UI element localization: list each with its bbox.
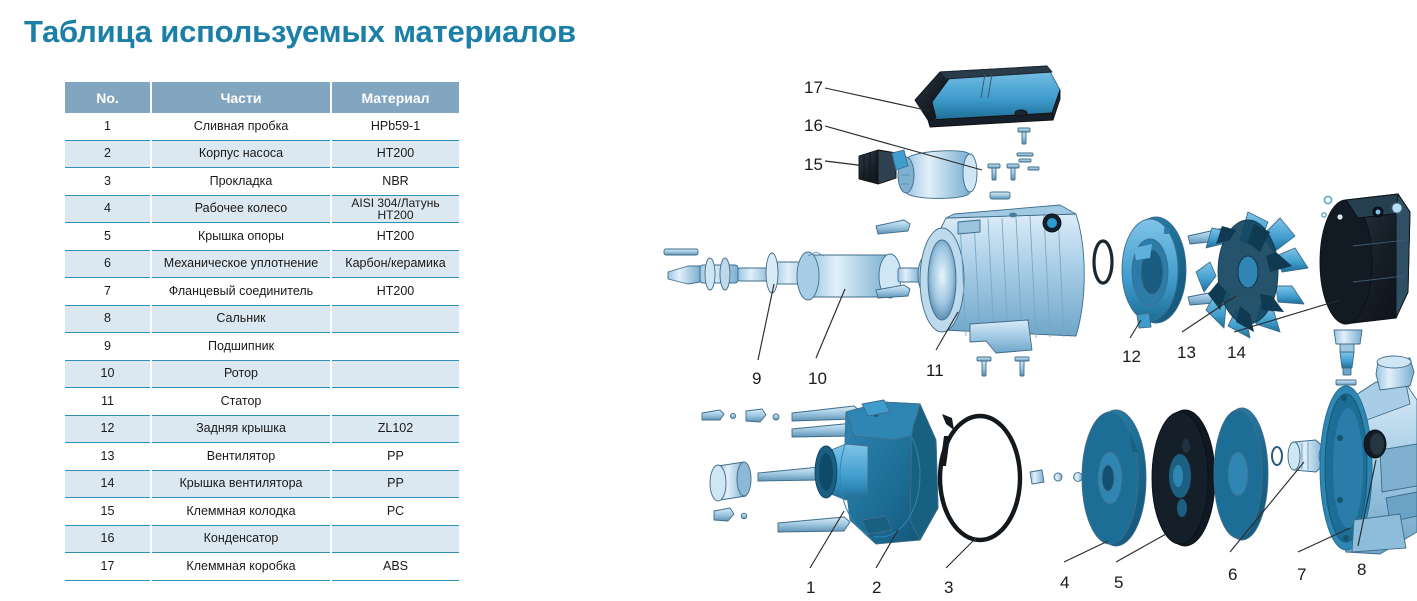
callout-label-1: 1 [806, 578, 815, 598]
table-row: 11Статор [65, 388, 459, 416]
materials-table-container: No. Части Материал 1Сливная пробкаHPb59-… [65, 82, 459, 581]
cell-material: ABS [331, 553, 459, 581]
cell-material: PC [331, 498, 459, 526]
table-row: 17Клеммная коробкаABS [65, 553, 459, 581]
cell-no: 7 [65, 278, 151, 306]
column-header-material: Материал [331, 82, 459, 113]
cell-material [331, 333, 459, 361]
callout-label-10: 10 [808, 369, 827, 389]
part-12-rear-cover [1122, 217, 1186, 328]
part-oring-rear [1094, 241, 1112, 283]
fasteners-mid-bottom [1030, 470, 1082, 484]
callout-label-4: 4 [1060, 573, 1069, 593]
table-row: 2Корпус насосаHT200 [65, 140, 459, 168]
cell-no: 12 [65, 415, 151, 443]
cell-material-line1: AISI 304/Латунь [334, 197, 457, 209]
part-3-gasket [940, 414, 1020, 540]
part-11-stator [920, 205, 1084, 338]
fasteners-foot [977, 357, 1029, 376]
table-row: 13ВентиляторPP [65, 443, 459, 471]
cell-part: Механическое уплотнение [151, 250, 331, 278]
exploded-pump-diagram: 1716159101112131412345678 [640, 0, 1417, 601]
cell-no: 17 [65, 553, 151, 581]
table-row: 7Фланцевый соединительHT200 [65, 278, 459, 306]
cell-part: Клеммная коробка [151, 553, 331, 581]
table-row: 9Подшипник [65, 333, 459, 361]
column-header-no: No. [65, 82, 151, 113]
cell-part: Статор [151, 388, 331, 416]
cell-part: Прокладка [151, 168, 331, 196]
table-row: 16Конденсатор [65, 525, 459, 553]
cell-material [331, 360, 459, 388]
callout-label-12: 12 [1122, 347, 1141, 367]
parts-plug-assembly [1334, 330, 1362, 385]
cell-material: PP [331, 443, 459, 471]
cell-material-line2: HT200 [334, 209, 457, 221]
cell-material [331, 305, 459, 333]
table-row: 14Крышка вентилятораPP [65, 470, 459, 498]
callout-label-2: 2 [872, 578, 881, 598]
part-17-terminal-box [915, 66, 1060, 127]
cell-no: 8 [65, 305, 151, 333]
cell-no: 13 [65, 443, 151, 471]
cell-part: Клеммная колодка [151, 498, 331, 526]
cell-material: HPb59-1 [331, 113, 459, 140]
column-header-part: Части [151, 82, 331, 113]
cell-no: 10 [65, 360, 151, 388]
table-row: 15Клеммная колодкаPC [65, 498, 459, 526]
cell-part: Крышка опоры [151, 223, 331, 251]
cell-material [331, 388, 459, 416]
cell-material: PP [331, 470, 459, 498]
part-flange-sleeve [710, 462, 751, 501]
table-row: 5Крышка опорыHT200 [65, 223, 459, 251]
materials-table-body: 1Сливная пробкаHPb59-12Корпус насосаHT20… [65, 113, 459, 580]
cell-no: 4 [65, 195, 151, 223]
part-9-bearing-shaft [664, 249, 818, 293]
materials-table: No. Части Материал 1Сливная пробкаHPb59-… [65, 82, 459, 581]
part-8-seal-ring [1364, 430, 1386, 458]
cell-no: 1 [65, 113, 151, 140]
cell-material: HT200 [331, 278, 459, 306]
cell-material: NBR [331, 168, 459, 196]
cell-part: Сливная пробка [151, 113, 331, 140]
part-11-foot-bracket [970, 320, 1032, 353]
cell-part: Вентилятор [151, 443, 331, 471]
callout-label-8: 8 [1357, 560, 1366, 580]
table-row: 1Сливная пробкаHPb59-1 [65, 113, 459, 140]
table-row: 12Задняя крышкаZL102 [65, 415, 459, 443]
cell-no: 3 [65, 168, 151, 196]
cell-material: Карбон/керамика [331, 250, 459, 278]
cell-no: 5 [65, 223, 151, 251]
table-row: 3ПрокладкаNBR [65, 168, 459, 196]
table-row: 8Сальник [65, 305, 459, 333]
callout-label-5: 5 [1114, 573, 1123, 593]
cell-part: Рабочее колесо [151, 195, 331, 223]
cell-no: 6 [65, 250, 151, 278]
cell-material: HT200 [331, 223, 459, 251]
callout-label-6: 6 [1228, 565, 1237, 585]
cell-material: ZL102 [331, 415, 459, 443]
table-row: 4Рабочее колесоAISI 304/ЛатуньHT200 [65, 195, 459, 223]
callout-label-13: 13 [1177, 343, 1196, 363]
cell-no: 14 [65, 470, 151, 498]
part-13-fan [1196, 212, 1308, 338]
callout-label-3: 3 [944, 578, 953, 598]
cell-part: Крышка вентилятора [151, 470, 331, 498]
cell-part: Подшипник [151, 333, 331, 361]
cell-part: Задняя крышка [151, 415, 331, 443]
cell-no: 2 [65, 140, 151, 168]
callout-label-14: 14 [1227, 343, 1246, 363]
cell-part: Корпус насоса [151, 140, 331, 168]
cell-material: AISI 304/ЛатуньHT200 [331, 195, 459, 223]
cell-part: Сальник [151, 305, 331, 333]
cell-no: 11 [65, 388, 151, 416]
cell-part: Ротор [151, 360, 331, 388]
part-14-fan-cover [1320, 194, 1410, 324]
cell-part: Конденсатор [151, 525, 331, 553]
table-row: 6Механическое уплотнениеКарбон/керамика [65, 250, 459, 278]
callout-label-7: 7 [1297, 565, 1306, 585]
cell-part: Фланцевый соединитель [151, 278, 331, 306]
part-impeller-secondary [1214, 408, 1268, 540]
fasteners-terminal [988, 128, 1039, 199]
part-4-impeller [1082, 410, 1146, 546]
callout-label-17: 17 [804, 78, 823, 98]
table-header-row: No. Части Материал [65, 82, 459, 113]
table-row: 10Ротор [65, 360, 459, 388]
part-5-support-cover [1152, 410, 1215, 546]
page-title: Таблица используемых материалов [24, 14, 576, 50]
cell-no: 16 [65, 525, 151, 553]
callout-label-16: 16 [804, 116, 823, 136]
cell-material [331, 525, 459, 553]
cell-no: 9 [65, 333, 151, 361]
callout-label-9: 9 [752, 369, 761, 389]
cell-no: 15 [65, 498, 151, 526]
pump-assembly-illustration [640, 0, 1417, 601]
cell-material: HT200 [331, 140, 459, 168]
callout-label-15: 15 [804, 155, 823, 175]
callout-label-11: 11 [926, 361, 944, 381]
